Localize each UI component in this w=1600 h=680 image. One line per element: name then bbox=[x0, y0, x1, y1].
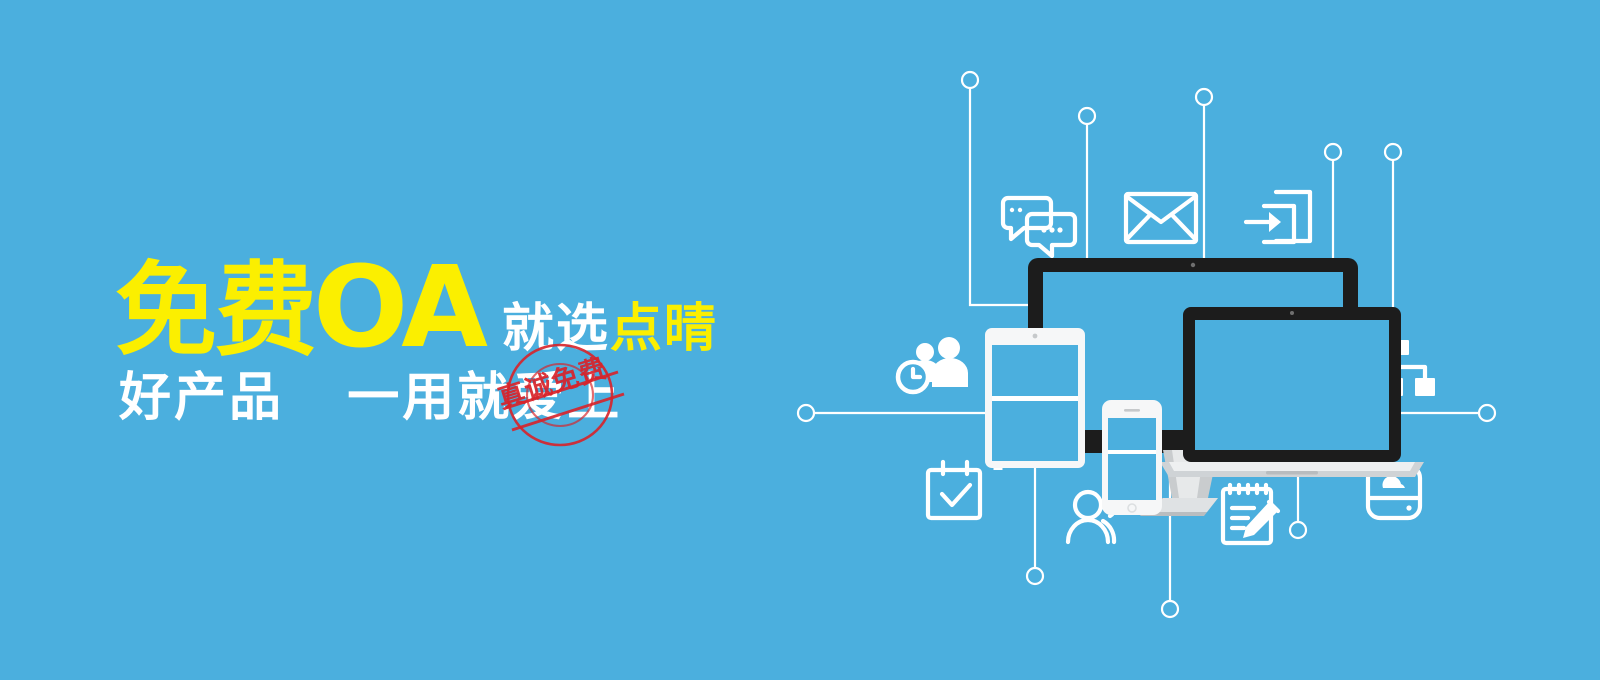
login-arrow-icon bbox=[1246, 192, 1310, 242]
tablet bbox=[985, 328, 1085, 468]
calendar-check-icon bbox=[928, 462, 980, 518]
headline-oa-text: OA bbox=[313, 252, 484, 364]
stamp-seal: 真诚免费 bbox=[490, 342, 630, 452]
notepad-pencil-icon bbox=[1223, 485, 1278, 543]
envelope-icon bbox=[1126, 194, 1196, 242]
promo-banner: 免费 OA 就选 点晴 好产品 一用就爱上 真诚免费 bbox=[0, 0, 1600, 680]
headline-block: 免费 OA 就选 点晴 好产品 一用就爱上 真诚免费 bbox=[115, 170, 755, 460]
users-clock-icon bbox=[898, 337, 968, 392]
chat-bubbles-icon bbox=[1003, 198, 1075, 256]
headline-free-text: 免费 bbox=[115, 261, 315, 363]
smartphone bbox=[1102, 400, 1162, 515]
laptop bbox=[1160, 307, 1424, 477]
illustration bbox=[780, 0, 1600, 680]
